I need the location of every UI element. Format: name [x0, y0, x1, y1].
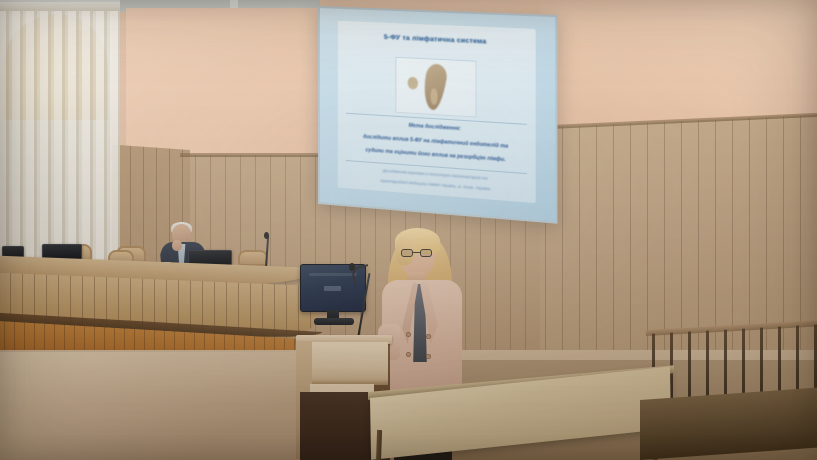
foreground-shadow-block: [300, 392, 378, 460]
chair-back: [238, 250, 268, 266]
slide-figure: [395, 57, 476, 118]
arched-window: [0, 2, 120, 270]
wall-back: [126, 8, 326, 158]
foreground-bench: [640, 387, 817, 460]
monitor-vent: [309, 273, 358, 276]
chairperson-hand: [172, 240, 182, 251]
blinds-shading: [0, 2, 120, 270]
figure-marker-icon: [407, 77, 418, 90]
desk-microphone-head: [264, 232, 269, 239]
screen-surface: 5-ФУ та лімфатична система Мета дослідже…: [318, 6, 557, 224]
monitor-badge-icon: [324, 286, 341, 291]
monitor-stand-foot: [314, 318, 354, 325]
projection-screen: 5-ФУ та лімфатична система Мета дослідже…: [318, 6, 557, 224]
eyeglasses-icon: [401, 249, 432, 257]
lectern-front-face: [300, 342, 388, 382]
blinds-rail: [0, 2, 120, 11]
photograph-lecture-hall: 5-ФУ та лімфатична система Мета дослідже…: [0, 0, 817, 460]
slide: 5-ФУ та лімфатична система Мета дослідже…: [338, 20, 536, 203]
slide-title: 5-ФУ та лімфатична система: [338, 32, 536, 48]
